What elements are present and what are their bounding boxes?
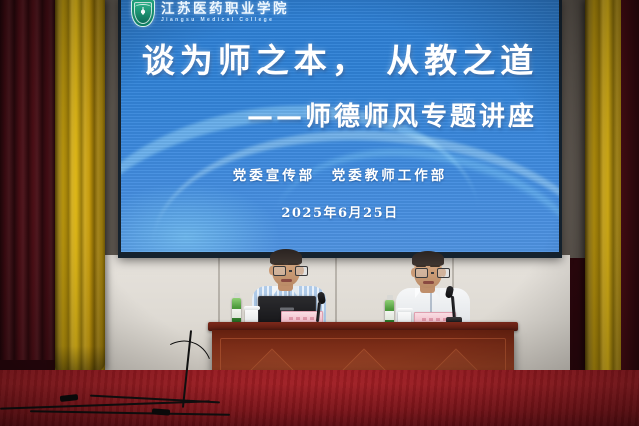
slide-date: 2025年6月25日: [121, 202, 559, 221]
college-logo: 江苏医药职业学院 Jiangsu Medical College: [131, 0, 289, 27]
curtain-maroon-right: [621, 0, 639, 370]
red-carpet: [0, 370, 639, 426]
water-bottle: [232, 298, 241, 324]
laptop-logo: [280, 307, 294, 310]
glasses-icon: [415, 268, 450, 278]
speaker-right-brow: [430, 265, 440, 267]
slide-subtitle: ——师德师风专题讲座: [247, 96, 537, 133]
conference-hall-photo: 江苏医药职业学院 Jiangsu Medical College 谈为师之本， …: [0, 0, 639, 426]
shield-crest-icon: [131, 0, 155, 27]
college-name-cn: 江苏医药职业学院: [161, 3, 289, 17]
glasses-icon: [273, 266, 308, 276]
speaker-right-mouth: [423, 281, 434, 284]
slide-title: 谈为师之本， 从教之道: [121, 34, 559, 82]
led-screen: 江苏医药职业学院 Jiangsu Medical College 谈为师之本， …: [121, 0, 559, 252]
speaker-right-brow: [416, 265, 426, 267]
speaker-left-brow: [288, 263, 298, 265]
college-name-en: Jiangsu Medical College: [161, 18, 289, 23]
speaker-right-hair: [412, 251, 444, 266]
speaker-left-mouth: [281, 279, 292, 282]
speaker-left-brow: [274, 263, 284, 265]
led-screen-frame: 江苏医药职业学院 Jiangsu Medical College 谈为师之本， …: [118, 0, 562, 258]
slide-organizers: 党委宣传部 党委教师工作部: [121, 164, 559, 184]
curtain-yellow-left: [55, 0, 105, 372]
